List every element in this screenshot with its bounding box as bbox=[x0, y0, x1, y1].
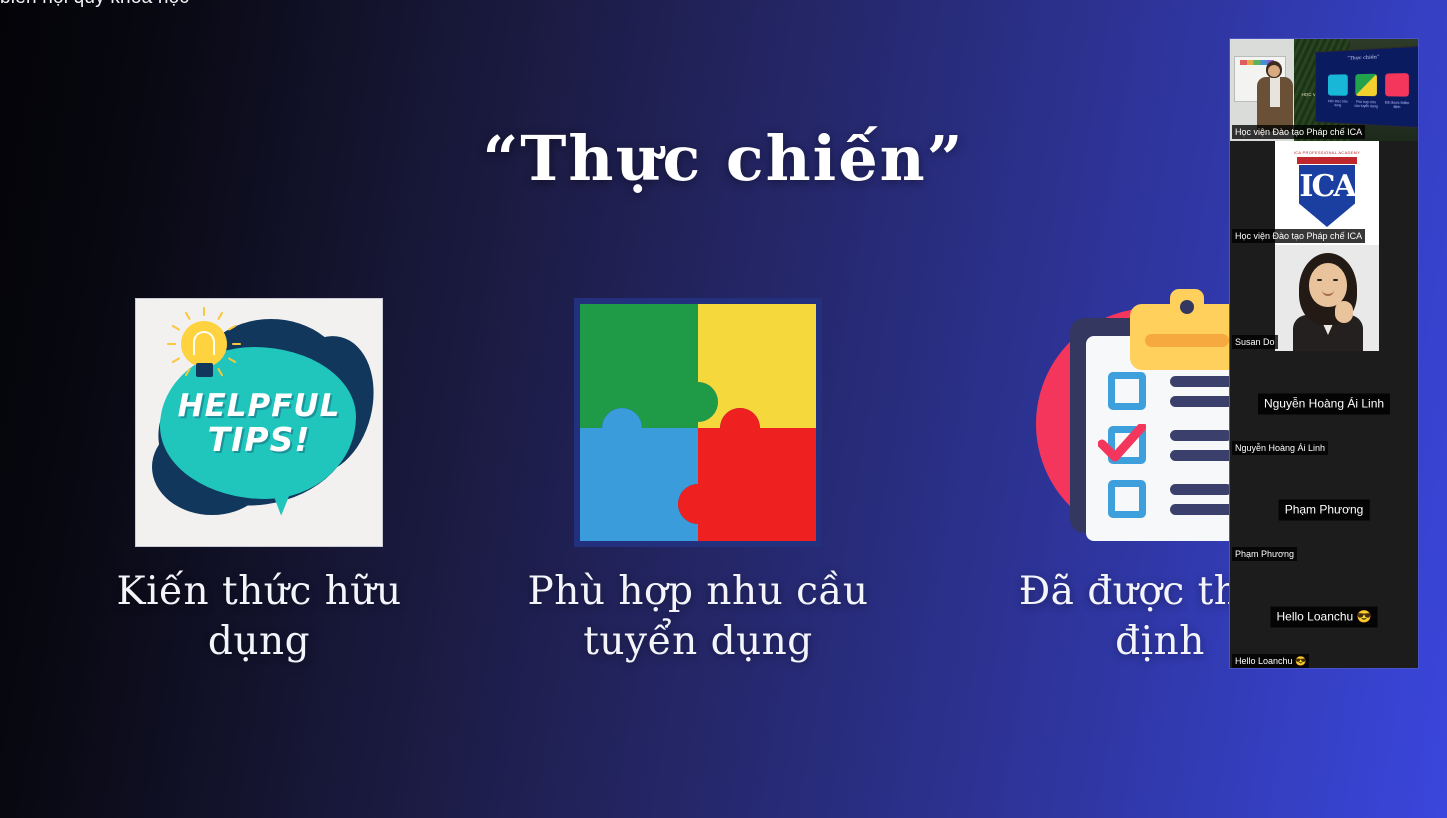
slide-stage: biến hội quý khoá học “Thực chiến” bbox=[0, 0, 1447, 818]
checkbox-3 bbox=[1108, 480, 1146, 518]
tips-text-line2: TIPS! bbox=[136, 423, 382, 457]
ica-logo-letters: ICA bbox=[1299, 171, 1355, 203]
participant-name-label: Nguyễn Hoàng Ái Linh bbox=[1232, 441, 1328, 455]
lightbulb-ray bbox=[167, 343, 176, 345]
photo-hand bbox=[1335, 301, 1353, 323]
feature-caption-1: Kiến thức hữu dụng bbox=[84, 567, 434, 667]
screen-caption-1: Kiến thức hữu dụng bbox=[1326, 99, 1349, 107]
helpful-tips-thumbnail: HELPFUL TIPS! bbox=[135, 298, 383, 547]
tips-text-line1: HELPFUL bbox=[136, 389, 382, 423]
photo-eye-left bbox=[1317, 279, 1322, 281]
participant-name-label: Phạm Phương bbox=[1232, 547, 1297, 561]
feature-column-2: Phù hợp nhu cầu tuyển dụng bbox=[523, 298, 873, 667]
participant-name-label: Học viện Đào tạo Pháp chế ICA bbox=[1232, 229, 1365, 243]
video-tile-ica-logo[interactable]: ICA PROFESSIONAL ACADEMY ICA Học viện Đà… bbox=[1230, 141, 1418, 245]
participant-placeholder-name: Hello Loanchu 😎 bbox=[1271, 606, 1378, 627]
clipboard-clamp-inner bbox=[1145, 334, 1229, 347]
clipped-slide-heading: biến hội quý khoá học bbox=[0, 0, 460, 10]
participant-name-label: Susan Do bbox=[1232, 335, 1278, 349]
screen-caption-3: Đã được thẩm định bbox=[1383, 100, 1411, 109]
video-tile-susan-do[interactable]: Susan Do bbox=[1230, 245, 1418, 351]
list-line-2a bbox=[1170, 430, 1232, 441]
lightbulb-ray bbox=[217, 311, 223, 320]
feature-caption-2: Phù hợp nhu cầu tuyển dụng bbox=[523, 567, 873, 667]
lightbulb-ray bbox=[185, 311, 191, 320]
screen-title: “Thực chiến” bbox=[1316, 52, 1418, 63]
participant-placeholder-name: Phạm Phương bbox=[1279, 500, 1370, 521]
tips-text: HELPFUL TIPS! bbox=[136, 389, 382, 457]
video-conference-panel[interactable]: HỌC VIỆN PHÁP CHẾ “Thực chiến” Kiến thức… bbox=[1229, 38, 1419, 669]
photo-eye-right bbox=[1333, 279, 1338, 281]
screen-icon-2 bbox=[1355, 74, 1377, 96]
participant-placeholder-name: Nguyễn Hoàng Ái Linh bbox=[1258, 394, 1390, 415]
lightbulb-ray bbox=[232, 343, 241, 345]
ica-logo-bar bbox=[1297, 157, 1357, 164]
lightbulb-ray bbox=[171, 357, 180, 363]
participant-photo bbox=[1275, 245, 1379, 351]
participant-name-label: Hello Loanchu 😎 bbox=[1232, 654, 1309, 668]
participant-name-label: Học viện Đào tạo Pháp chế ICA bbox=[1232, 125, 1365, 139]
ica-logo-subtitle: ICA PROFESSIONAL ACADEMY bbox=[1275, 150, 1379, 155]
video-tile-pham-phuong[interactable]: Phạm Phương Phạm Phương bbox=[1230, 457, 1418, 563]
lightbulb-base bbox=[196, 363, 213, 377]
feature-column-1: HELPFUL TIPS! Kiến thức hữu dụng bbox=[84, 298, 434, 667]
speech-bubble-tail bbox=[259, 473, 296, 517]
checkbox-1 bbox=[1108, 372, 1146, 410]
presenter-shirt bbox=[1270, 77, 1280, 107]
lightbulb-ray bbox=[203, 307, 205, 316]
checkmark-icon bbox=[1098, 424, 1146, 464]
lightbulb-filament bbox=[193, 331, 215, 355]
jigsaw-puzzle-icon bbox=[574, 298, 822, 547]
video-tile-hello-loanchu[interactable]: Hello Loanchu 😎 Hello Loanchu 😎 bbox=[1230, 563, 1418, 669]
video-tile-presenter[interactable]: HỌC VIỆN PHÁP CHẾ “Thực chiến” Kiến thức… bbox=[1230, 39, 1418, 141]
puzzle-thumbnail bbox=[574, 298, 822, 547]
clipboard-clamp-hole bbox=[1180, 300, 1194, 314]
lightbulb-ray bbox=[171, 325, 180, 331]
screen-caption-2: Phù hợp nhu cầu tuyển dụng bbox=[1353, 100, 1379, 109]
screen-icon-1 bbox=[1328, 74, 1348, 95]
video-tile-nguyen-hoang-ai-linh[interactable]: Nguyễn Hoàng Ái Linh Nguyễn Hoàng Ái Lin… bbox=[1230, 351, 1418, 457]
list-line-3a bbox=[1170, 484, 1232, 495]
presenter-face bbox=[1268, 65, 1280, 77]
presentation-screen: “Thực chiến” Kiến thức hữu dụng Phù hợp … bbox=[1315, 46, 1418, 129]
screen-icon-3 bbox=[1385, 73, 1409, 97]
